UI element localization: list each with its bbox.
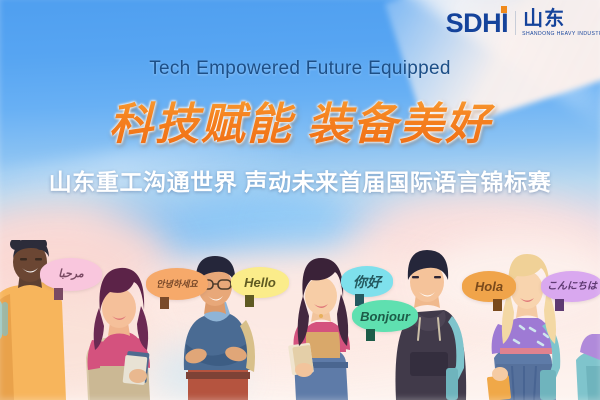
promo-banner: SDHI 山东 SHANDONG HEAVY INDUSTRY Tech Emp… (0, 0, 600, 400)
logo-accent-dot (501, 6, 507, 13)
logo-divider (515, 11, 516, 35)
bubble-text: こんにちは (547, 282, 597, 292)
logo-cn-main: 山东 (523, 9, 600, 29)
bubble-text: 你好 (353, 275, 381, 289)
speech-bubble-korean: 안녕하세요 (146, 268, 208, 300)
logo-chinese-name: 山东 SHANDONG HEAVY INDUSTRY (523, 9, 600, 37)
logo-wordmark: SDHI (446, 10, 509, 37)
speech-bubble-japanese: こんにちは (541, 271, 600, 302)
speech-bubble-arabic: مرحبا (40, 258, 102, 291)
person-woman-purple-hair (86, 268, 150, 400)
bubble-text: Hello (244, 276, 276, 289)
speech-bubble-chinese: 你好 (341, 266, 393, 297)
bubble-text: Bonjour (360, 310, 410, 323)
speech-bubble-french: Bonjour (352, 300, 418, 332)
headline-chinese: 科技赋能 装备美好 (0, 88, 600, 152)
person-partial-right (576, 334, 600, 400)
bubble-text: Hola (475, 280, 503, 293)
bubble-text: مرحبا (58, 269, 83, 280)
event-subtitle: 山东重工沟通世界 声动未来首届国际语言锦标赛 (0, 163, 600, 197)
sdhi-logo[interactable]: SDHI 山东 SHANDONG HEAVY INDUSTRY (446, 9, 600, 37)
logo-cn-subtitle: SHANDONG HEAVY INDUSTRY (522, 32, 600, 37)
bubble-text: 안녕하세요 (156, 280, 197, 289)
speech-bubble-english: Hello (231, 267, 289, 298)
speech-bubble-spanish: Hola (462, 271, 516, 302)
headline-english: Tech Empowered Future Equipped (0, 58, 600, 80)
